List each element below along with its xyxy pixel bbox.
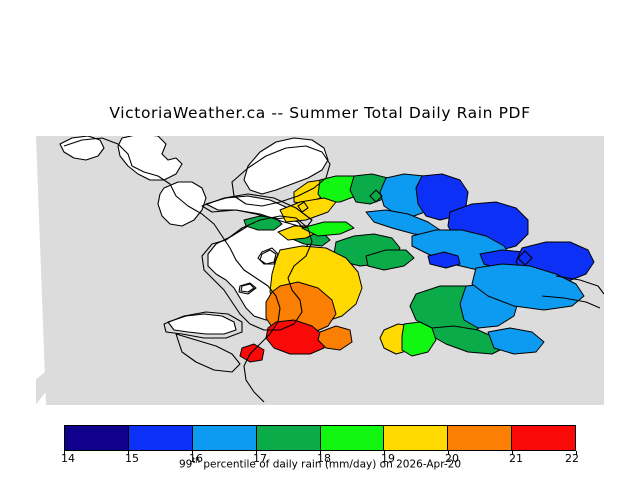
colorbar-caption: 99th percentile of daily rain (mm/day) o… xyxy=(0,456,640,471)
map-svg xyxy=(36,136,604,405)
colorbar-caption-superscript: th xyxy=(192,456,200,465)
colorbar-caption-prefix: 99 xyxy=(179,459,192,471)
colorbar-tick-labels: 14 15 16 17 18 19 20 21 22 xyxy=(0,425,640,445)
colorbar-caption-suffix: percentile of daily rain (mm/day) on 202… xyxy=(200,459,461,471)
weather-map-figure: VictoriaWeather.ca -- Summer Total Daily… xyxy=(0,0,640,480)
page-title: VictoriaWeather.ca -- Summer Total Daily… xyxy=(0,104,640,122)
map-panel[interactable] xyxy=(36,136,604,405)
